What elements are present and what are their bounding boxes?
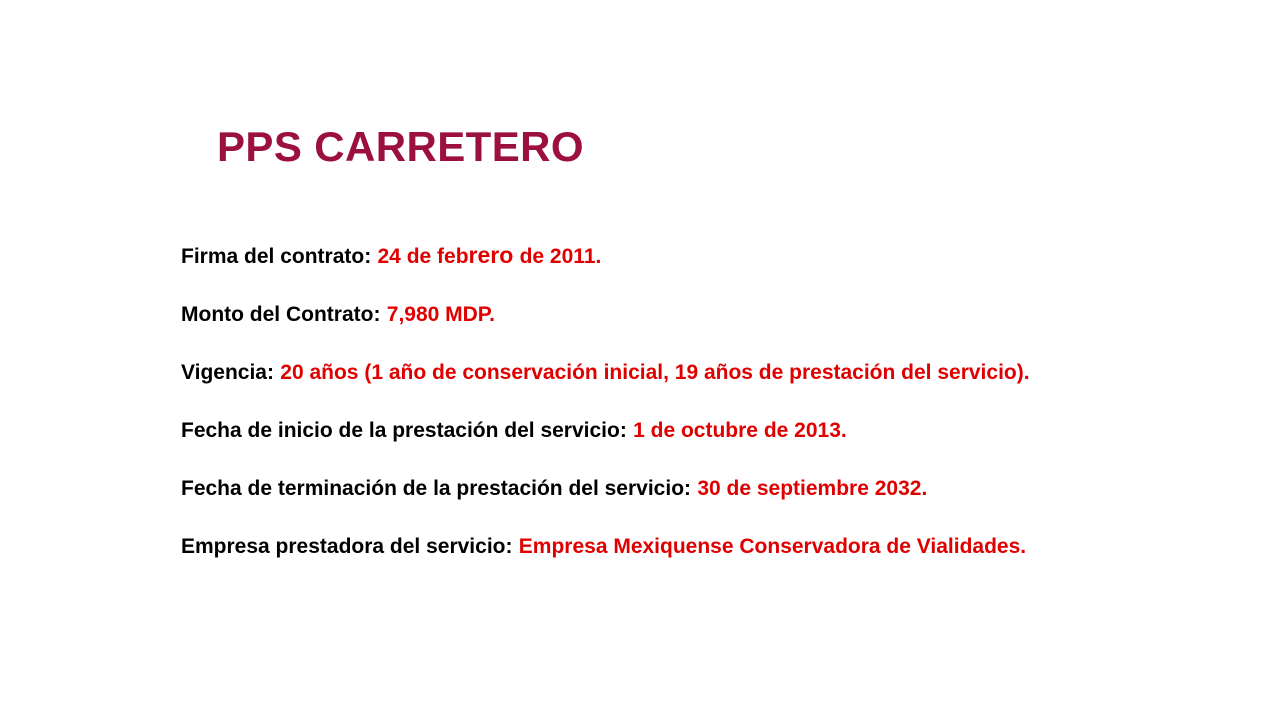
fact-label-fecha-terminacion: Fecha de terminación de la prestación de… [181, 477, 691, 500]
fact-value-firma-contrato-post: de 2011. [520, 245, 602, 268]
fact-value-empresa-prestadora: Empresa Mexiquense Conservadora de Viali… [519, 535, 1026, 558]
fact-value-vigencia: 20 años (1 año de conservación inicial, … [280, 361, 1029, 384]
fact-value-monto-contrato: 7,980 MDP. [387, 303, 495, 326]
fact-value-firma-contrato-pre: 24 de feb [378, 245, 469, 268]
fact-label-firma-contrato: Firma del contrato: [181, 245, 371, 268]
fact-label-monto-contrato: Monto del Contrato: [181, 303, 380, 326]
fact-label-fecha-inicio: Fecha de inicio de la prestación del ser… [181, 419, 627, 442]
fact-label-empresa-prestadora: Empresa prestadora del servicio: [181, 535, 512, 558]
fact-row-empresa-prestadora: Empresa prestadora del servicio:Empresa … [181, 536, 1241, 558]
fact-row-firma-contrato: Firma del contrato:24 de febrerode 2011. [181, 243, 1241, 268]
fact-row-fecha-terminacion: Fecha de terminación de la prestación de… [181, 478, 1241, 500]
slide-canvas: PPS CARRETERO Firma del contrato:24 de f… [0, 0, 1280, 720]
fact-value-fecha-inicio: 1 de octubre de 2013. [633, 419, 847, 442]
fact-value-firma-contrato-bump: rero [469, 242, 514, 268]
fact-list: Firma del contrato:24 de febrerode 2011.… [181, 243, 1241, 558]
fact-row-vigencia: Vigencia:20 años (1 año de conservación … [181, 362, 1241, 384]
fact-value-fecha-terminacion: 30 de septiembre 2032. [697, 477, 927, 500]
fact-row-fecha-inicio: Fecha de inicio de la prestación del ser… [181, 420, 1241, 442]
page-title: PPS CARRETERO [217, 126, 584, 168]
fact-label-vigencia: Vigencia: [181, 361, 274, 384]
fact-row-monto-contrato: Monto del Contrato:7,980 MDP. [181, 304, 1241, 326]
